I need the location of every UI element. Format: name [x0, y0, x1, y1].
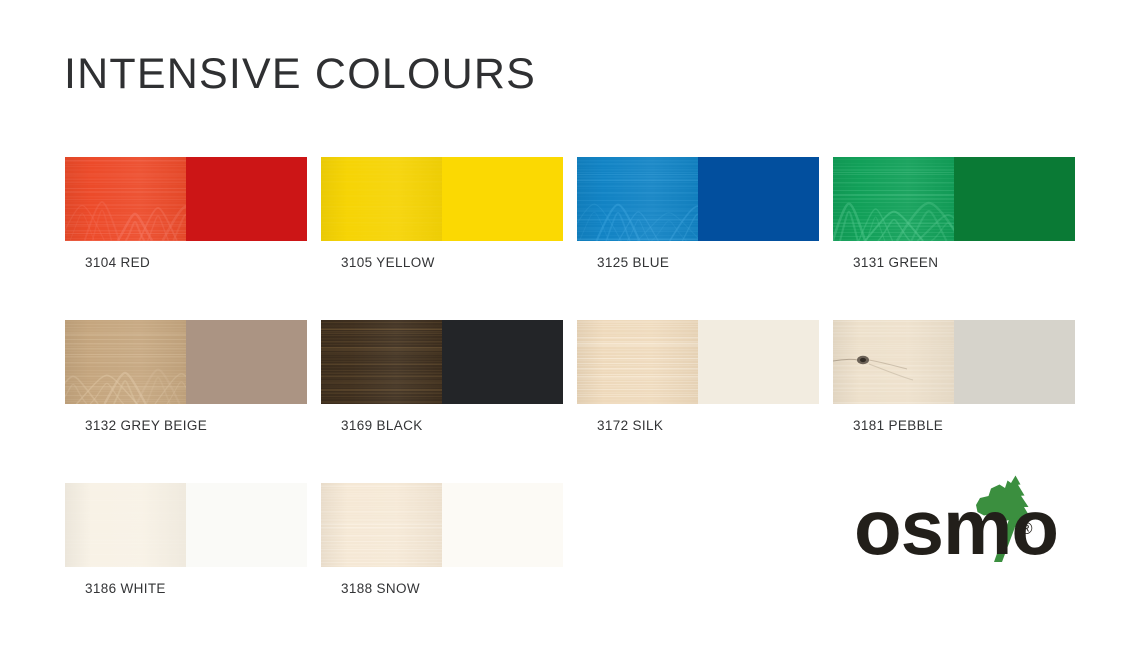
swatch-chip[interactable]	[321, 320, 563, 404]
grain-shading	[833, 320, 954, 404]
swatch-card-3188[interactable]: 3188 SNOW	[321, 483, 563, 567]
osmo-logo-svg: osmo ®	[852, 470, 1077, 570]
swatch-grain-half	[577, 157, 698, 241]
swatch-chip[interactable]	[321, 483, 563, 567]
swatch-chip[interactable]	[577, 157, 819, 241]
swatch-solid-half	[954, 157, 1075, 241]
grain-shading	[577, 320, 698, 404]
grain-shading	[321, 483, 442, 567]
swatch-grain-half	[321, 483, 442, 567]
swatch-grain-half	[65, 483, 186, 567]
swatch-label: 3172 SILK	[597, 418, 663, 433]
swatch-card-3125[interactable]: 3125 BLUE	[577, 157, 819, 241]
swatch-solid-half	[442, 320, 563, 404]
grain-shading	[321, 157, 442, 241]
swatch-solid-half	[954, 320, 1075, 404]
swatch-chip[interactable]	[321, 157, 563, 241]
swatch-label: 3186 WHITE	[85, 581, 166, 596]
grain-shading	[65, 483, 186, 567]
swatch-card-3104[interactable]: 3104 RED	[65, 157, 307, 241]
swatch-label: 3125 BLUE	[597, 255, 669, 270]
grain-shading	[833, 157, 954, 241]
swatch-grain-half	[833, 320, 954, 404]
swatch-chip[interactable]	[65, 320, 307, 404]
swatch-solid-half	[186, 157, 307, 241]
swatch-card-3105[interactable]: 3105 YELLOW	[321, 157, 563, 241]
swatch-card-3181[interactable]: 3181 PEBBLE	[833, 320, 1075, 404]
swatch-grain-half	[321, 320, 442, 404]
swatch-solid-half	[698, 320, 819, 404]
swatch-solid-half	[442, 483, 563, 567]
swatch-solid-half	[442, 157, 563, 241]
swatch-grain-half	[577, 320, 698, 404]
swatch-card-3186[interactable]: 3186 WHITE	[65, 483, 307, 567]
swatch-label: 3131 GREEN	[853, 255, 938, 270]
swatch-chip[interactable]	[833, 320, 1075, 404]
grain-shading	[321, 320, 442, 404]
swatch-label: 3188 SNOW	[341, 581, 420, 596]
swatch-chip[interactable]	[833, 157, 1075, 241]
swatch-grain-half	[321, 157, 442, 241]
swatch-label: 3132 GREY BEIGE	[85, 418, 207, 433]
swatch-row: 3104 RED 3105 YELLOW 3125 BLUE 3131 GREE…	[65, 157, 1075, 241]
swatch-solid-half	[186, 320, 307, 404]
swatch-card-3172[interactable]: 3172 SILK	[577, 320, 819, 404]
swatch-chip[interactable]	[65, 157, 307, 241]
swatch-solid-half	[186, 483, 307, 567]
swatch-label: 3169 BLACK	[341, 418, 423, 433]
swatch-label: 3181 PEBBLE	[853, 418, 943, 433]
registered-trademark-icon: ®	[1020, 519, 1033, 538]
swatch-chip[interactable]	[65, 483, 307, 567]
swatch-card-3169[interactable]: 3169 BLACK	[321, 320, 563, 404]
swatch-grain-half	[833, 157, 954, 241]
grain-shading	[65, 320, 186, 404]
swatch-label: 3105 YELLOW	[341, 255, 435, 270]
swatch-grain-half	[65, 320, 186, 404]
swatch-row: 3132 GREY BEIGE 3169 BLACK 3172 SILK 318…	[65, 320, 1075, 404]
swatch-card-3131[interactable]: 3131 GREEN	[833, 157, 1075, 241]
grain-shading	[577, 157, 698, 241]
page-title: INTENSIVE COLOURS	[64, 53, 536, 96]
swatch-grain-half	[65, 157, 186, 241]
grain-shading	[65, 157, 186, 241]
swatch-label: 3104 RED	[85, 255, 150, 270]
swatch-card-3132[interactable]: 3132 GREY BEIGE	[65, 320, 307, 404]
swatch-solid-half	[698, 157, 819, 241]
swatch-chip[interactable]	[577, 320, 819, 404]
osmo-logo: osmo ®	[852, 470, 1077, 570]
